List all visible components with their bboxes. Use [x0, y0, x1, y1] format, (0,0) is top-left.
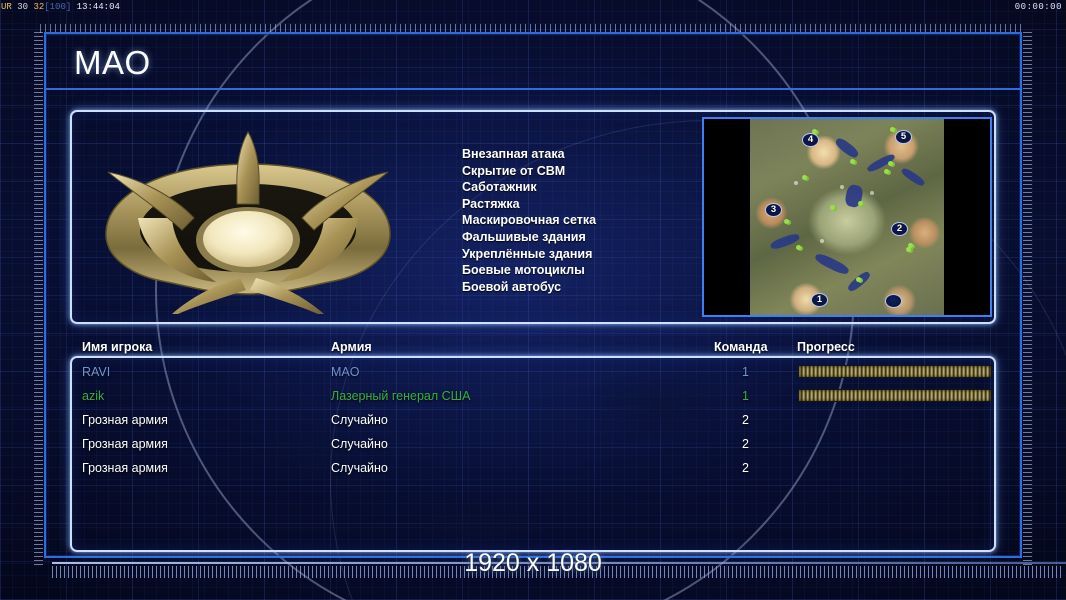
ability-item: Фальшивые здания: [462, 229, 596, 246]
map-preview[interactable]: 45321: [702, 117, 992, 317]
tracker-value-2: 32: [33, 2, 44, 12]
ability-item: Скрытие от СВМ: [462, 163, 596, 180]
column-header-team: Команда: [714, 340, 768, 354]
clock-right: 00:00:00: [1015, 0, 1062, 14]
ability-item: Маскировочная сетка: [462, 212, 596, 229]
cell-army: Лазерный генерал США: [331, 387, 470, 405]
ruler-right: [1023, 32, 1032, 568]
roster-header-row: Имя игрока Армия Команда Прогресс: [0, 340, 1066, 358]
table-row[interactable]: Грозная армияСлучайно2: [0, 435, 1066, 459]
cell-team: 1: [742, 363, 749, 381]
map-start-marker: 3: [765, 203, 782, 217]
faction-ability-list: Внезапная атака Скрытие от СВМ Саботажни…: [462, 146, 596, 295]
network-stats: UR 30 32[100] 13:44:04: [1, 0, 120, 14]
progress-bar: [798, 389, 992, 402]
page-title: MAO: [74, 44, 151, 82]
cell-team: 2: [742, 459, 749, 477]
resolution-label: 1920 x 1080: [0, 549, 1066, 578]
top-status-bar: UR 30 32[100] 13:44:04 00:00:00: [0, 0, 1066, 14]
game-lobby-screen: UR 30 32[100] 13:44:04 00:00:00 MAO: [0, 0, 1066, 600]
map-start-marker: 1: [811, 293, 828, 307]
title-separator: [46, 88, 1020, 90]
ability-item: Внезапная атака: [462, 146, 596, 163]
map-start-marker: 4: [802, 133, 819, 147]
table-row[interactable]: Грозная армияСлучайно2: [0, 411, 1066, 435]
map-start-marker: 2: [891, 222, 908, 236]
column-header-player-name: Имя игрока: [82, 340, 152, 354]
table-row[interactable]: azikЛазерный генерал США1: [0, 387, 1066, 411]
cell-army: Случайно: [331, 435, 388, 453]
tracker-prefix: UR: [1, 2, 12, 12]
ability-item: Укреплённые здания: [462, 246, 596, 263]
map-start-marker: [885, 294, 902, 308]
roster-list: RAVIMAO1azikЛазерный генерал США1Грозная…: [0, 363, 1066, 483]
table-row[interactable]: Грозная армияСлучайно2: [0, 459, 1066, 483]
tracker-bracket: [100]: [44, 2, 71, 12]
ability-item: Боевой автобус: [462, 279, 596, 296]
cell-player-name: azik: [82, 387, 104, 405]
ruler-left: [34, 32, 43, 568]
cell-army: Случайно: [331, 411, 388, 429]
clock-left: 13:44:04: [77, 2, 120, 12]
cell-player-name: Грозная армия: [82, 459, 168, 477]
ability-item: Боевые мотоциклы: [462, 262, 596, 279]
cell-team: 1: [742, 387, 749, 405]
ability-item: Растяжка: [462, 196, 596, 213]
cell-team: 2: [742, 411, 749, 429]
column-header-army: Армия: [331, 340, 372, 354]
cell-player-name: RAVI: [82, 363, 110, 381]
tracker-value-1: 30: [17, 2, 28, 12]
faction-emblem: [98, 126, 398, 314]
map-start-marker: 5: [895, 130, 912, 144]
cell-army: MAO: [331, 363, 359, 381]
faction-emblem-icon: [98, 126, 398, 314]
cell-player-name: Грозная армия: [82, 435, 168, 453]
cell-army: Случайно: [331, 459, 388, 477]
progress-bar: [798, 365, 992, 378]
column-header-progress: Прогресс: [797, 340, 855, 354]
emblem-missile: [237, 132, 259, 204]
table-row[interactable]: RAVIMAO1: [0, 363, 1066, 387]
ability-item: Саботажник: [462, 179, 596, 196]
cell-player-name: Грозная армия: [82, 411, 168, 429]
map-preview-image: [750, 119, 944, 315]
emblem-core: [203, 211, 293, 267]
cell-team: 2: [742, 435, 749, 453]
